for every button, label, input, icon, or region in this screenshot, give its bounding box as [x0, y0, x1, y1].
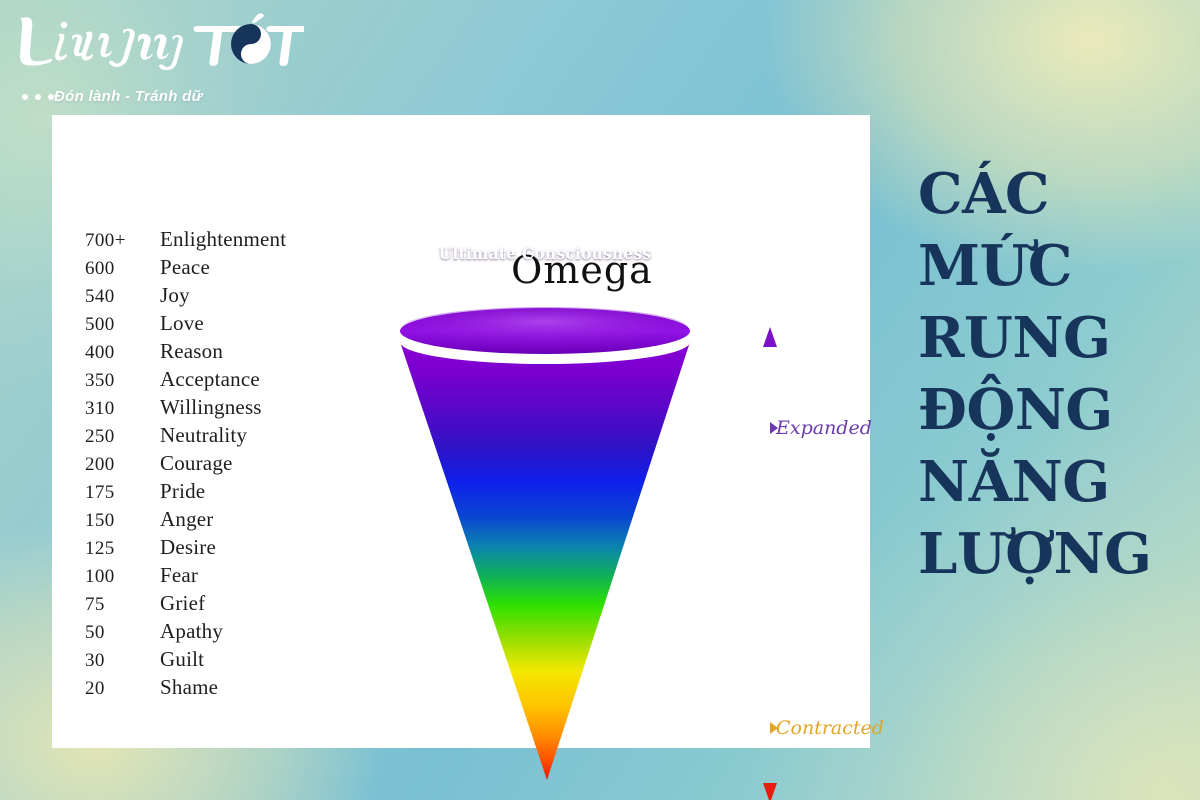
- scale-row: 75Grief: [85, 591, 335, 619]
- scale-value: 250: [85, 426, 160, 448]
- yin-yang-icon: [231, 24, 271, 64]
- scale-row: 50Apathy: [85, 619, 335, 647]
- scale-row: 100Fear: [85, 563, 335, 591]
- cone-graphic: [335, 200, 755, 780]
- consciousness-cone: Ultimate Consciousness Alpha Point: [335, 200, 755, 780]
- scale-value: 540: [85, 286, 160, 308]
- scale-row: 310Willingness: [85, 395, 335, 423]
- scale-value: 500: [85, 314, 160, 336]
- scale-row: 700+Enlightenment: [85, 227, 335, 255]
- brand-tagline: Đón lành - Tránh dữ: [54, 88, 203, 105]
- scale-label: Courage: [160, 451, 233, 476]
- scale-label: Acceptance: [160, 367, 260, 392]
- scale-value: 100: [85, 566, 160, 588]
- scale-label: Enlightenment: [160, 227, 286, 252]
- scale-label: Grief: [160, 591, 205, 616]
- scale-value: 700+: [85, 230, 160, 252]
- expansion-axis: Expanded Contracted: [742, 325, 922, 800]
- scale-value: 125: [85, 538, 160, 560]
- scale-label: Reason: [160, 339, 223, 364]
- scale-value: 350: [85, 370, 160, 392]
- scale-label: Shame: [160, 675, 218, 700]
- consciousness-scale-list: 700+Enlightenment600Peace540Joy500Love40…: [85, 227, 335, 703]
- headline-line: CÁC: [918, 158, 1178, 230]
- scale-value: 150: [85, 510, 160, 532]
- scale-row: 125Desire: [85, 535, 335, 563]
- scale-value: 30: [85, 650, 160, 672]
- scale-row: 30Guilt: [85, 647, 335, 675]
- scale-label: Love: [160, 311, 204, 336]
- scale-label: Joy: [160, 283, 190, 308]
- scale-row: 350Acceptance: [85, 367, 335, 395]
- scale-value: 75: [85, 594, 160, 616]
- scale-value: 400: [85, 342, 160, 364]
- scale-value: 200: [85, 454, 160, 476]
- brand-wordmark: [14, 12, 304, 70]
- scale-label: Neutrality: [160, 423, 247, 448]
- scale-label: Apathy: [160, 619, 223, 644]
- brand-logo[interactable]: Đón lành - Tránh dữ: [14, 12, 304, 102]
- axis-label-contracted: Contracted: [776, 717, 884, 739]
- scale-value: 50: [85, 622, 160, 644]
- scale-value: 175: [85, 482, 160, 504]
- scale-value: 600: [85, 258, 160, 280]
- tagline-dots: [22, 94, 54, 100]
- headline-line: RUNG: [918, 302, 1178, 374]
- headline-line: LƯỢNG: [918, 518, 1178, 590]
- scale-row: 400Reason: [85, 339, 335, 367]
- scale-row: 500Love: [85, 311, 335, 339]
- cone-cap-label: Ultimate Consciousness: [335, 244, 755, 263]
- scale-value: 20: [85, 678, 160, 700]
- scale-label: Anger: [160, 507, 213, 532]
- scale-label: Willingness: [160, 395, 262, 420]
- scale-label: Fear: [160, 563, 198, 588]
- scale-row: 20Shame: [85, 675, 335, 703]
- axis-label-expanded: Expanded: [776, 417, 872, 439]
- scale-label: Desire: [160, 535, 216, 560]
- scale-row: 250Neutrality: [85, 423, 335, 451]
- scale-row: 540Joy: [85, 283, 335, 311]
- headline-line: MỨC: [918, 230, 1178, 302]
- scale-label: Pride: [160, 479, 205, 504]
- diagram-card: 700+Enlightenment600Peace540Joy500Love40…: [52, 115, 870, 748]
- scale-row: 150Anger: [85, 507, 335, 535]
- scale-row: 200Courage: [85, 451, 335, 479]
- headline: CÁCMỨCRUNGĐỘNGNĂNGLƯỢNG: [918, 158, 1178, 590]
- scale-label: Guilt: [160, 647, 204, 672]
- scale-row: 175Pride: [85, 479, 335, 507]
- scale-row: 600Peace: [85, 255, 335, 283]
- scale-label: Peace: [160, 255, 210, 280]
- headline-line: ĐỘNG: [918, 374, 1178, 446]
- headline-line: NĂNG: [918, 446, 1178, 518]
- scale-value: 310: [85, 398, 160, 420]
